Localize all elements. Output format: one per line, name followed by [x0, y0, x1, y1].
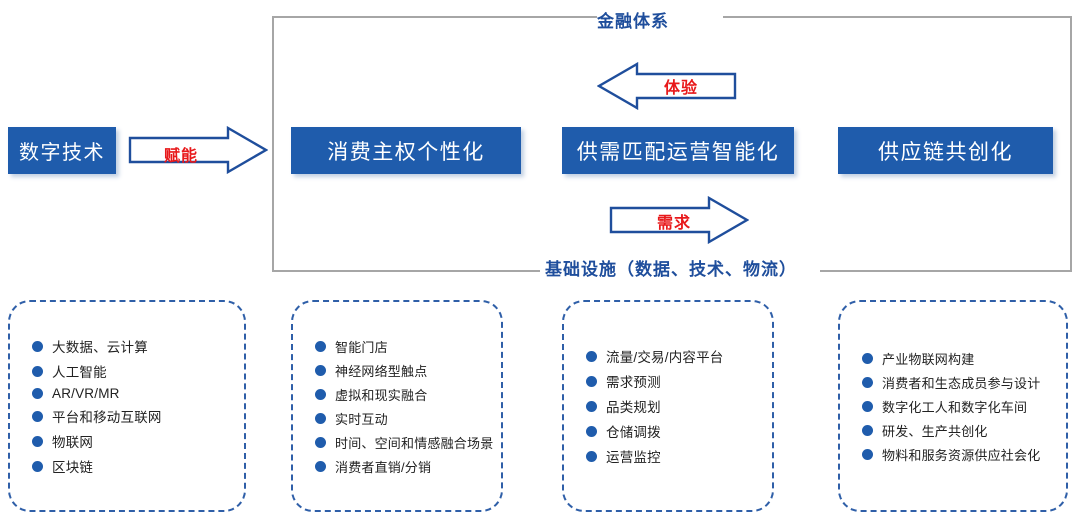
- list-item: 流量/交易/内容平台: [586, 346, 772, 366]
- list-item-label: 物料和服务资源供应社会化: [882, 445, 1040, 464]
- bullet-dot-icon: [315, 341, 326, 352]
- bullet-dot-icon: [586, 401, 597, 412]
- bullet-dot-icon: [862, 353, 873, 364]
- card-supply-demand-items: 流量/交易/内容平台 需求预测 品类规划 仓储调拨 运营监控: [562, 300, 774, 512]
- list-item-label: 时间、空间和情感融合场景: [335, 433, 493, 452]
- bullet-dot-icon: [586, 351, 597, 362]
- list-item-label: 消费者和生态成员参与设计: [882, 373, 1040, 392]
- list-item-label: 流量/交易/内容平台: [606, 346, 724, 366]
- list-item: 智能门店: [315, 337, 501, 356]
- arrow-demand-label: 需求: [657, 209, 691, 233]
- list-item-label: 虚拟和现实融合: [335, 385, 427, 404]
- box-supply-chain-cocreation[interactable]: 供应链共创化: [838, 127, 1053, 174]
- bullet-dot-icon: [586, 376, 597, 387]
- bullet-dot-icon: [862, 425, 873, 436]
- list-item-label: 品类规划: [606, 396, 661, 416]
- list-item: 需求预测: [586, 371, 772, 391]
- list-item: 运营监控: [586, 446, 772, 466]
- list-item: 大数据、云计算: [32, 336, 244, 356]
- bullet-dot-icon: [586, 426, 597, 437]
- list-item-label: 物联网: [52, 431, 93, 451]
- bullet-list: 产业物联网构建 消费者和生态成员参与设计 数字化工人和数字化车间 研发、生产共创…: [840, 344, 1066, 469]
- bullet-dot-icon: [862, 449, 873, 460]
- list-item: 仓储调拨: [586, 421, 772, 441]
- list-item-label: 消费者直销/分销: [335, 457, 431, 476]
- bullet-dot-icon: [315, 365, 326, 376]
- list-item: 消费者直销/分销: [315, 457, 501, 476]
- list-item-label: 神经网络型触点: [335, 361, 427, 380]
- financial-system-label: 金融体系: [597, 7, 669, 32]
- list-item-label: 智能门店: [335, 337, 388, 356]
- list-item: 人工智能: [32, 361, 244, 381]
- box-supply-demand-matching[interactable]: 供需匹配运营智能化: [562, 127, 794, 174]
- list-item: 研发、生产共创化: [862, 421, 1066, 440]
- card-consumer-sovereignty-items: 智能门店 神经网络型触点 虚拟和现实融合 实时互动 时间、空间和情感融合场景 消…: [291, 300, 503, 512]
- bullet-dot-icon: [862, 401, 873, 412]
- bullet-dot-icon: [32, 341, 43, 352]
- bullet-list: 流量/交易/内容平台 需求预测 品类规划 仓储调拨 运营监控: [564, 341, 772, 471]
- bullet-list: 智能门店 神经网络型触点 虚拟和现实融合 实时互动 时间、空间和情感融合场景 消…: [293, 332, 501, 481]
- box-digital-technology[interactable]: 数字技术: [8, 127, 116, 174]
- list-item: 平台和移动互联网: [32, 406, 244, 426]
- bullet-dot-icon: [315, 461, 326, 472]
- box-consumer-sovereignty[interactable]: 消费主权个性化: [291, 127, 521, 174]
- list-item-label: 研发、生产共创化: [882, 421, 988, 440]
- list-item-label: 仓储调拨: [606, 421, 661, 441]
- bullet-dot-icon: [32, 388, 43, 399]
- list-item: 消费者和生态成员参与设计: [862, 373, 1066, 392]
- list-item: 物联网: [32, 431, 244, 451]
- card-digital-technology-items: 大数据、云计算 人工智能 AR/VR/MR 平台和移动互联网 物联网 区块链: [8, 300, 246, 512]
- bullet-dot-icon: [32, 436, 43, 447]
- list-item: 神经网络型触点: [315, 361, 501, 380]
- list-item-label: 平台和移动互联网: [52, 406, 162, 426]
- bullet-list: 大数据、云计算 人工智能 AR/VR/MR 平台和移动互联网 物联网 区块链: [10, 331, 244, 481]
- list-item: 虚拟和现实融合: [315, 385, 501, 404]
- bullet-dot-icon: [862, 377, 873, 388]
- list-item: AR/VR/MR: [32, 386, 244, 401]
- bullet-dot-icon: [32, 366, 43, 377]
- diagram-canvas: 金融体系 基础设施（数据、技术、物流） 数字技术 消费主权个性化 供需匹配运营智…: [0, 0, 1080, 519]
- bullet-dot-icon: [32, 411, 43, 422]
- list-item-label: 大数据、云计算: [52, 336, 148, 356]
- list-item-label: 实时互动: [335, 409, 388, 428]
- bullet-dot-icon: [586, 451, 597, 462]
- list-item-label: 区块链: [52, 456, 93, 476]
- list-item: 数字化工人和数字化车间: [862, 397, 1066, 416]
- list-item-label: 数字化工人和数字化车间: [882, 397, 1027, 416]
- list-item-label: 需求预测: [606, 371, 661, 391]
- bullet-dot-icon: [32, 461, 43, 472]
- list-item-label: 人工智能: [52, 361, 107, 381]
- list-item-label: AR/VR/MR: [52, 386, 120, 401]
- list-item: 物料和服务资源供应社会化: [862, 445, 1066, 464]
- list-item: 时间、空间和情感融合场景: [315, 433, 501, 452]
- list-item: 产业物联网构建: [862, 349, 1066, 368]
- list-item: 区块链: [32, 456, 244, 476]
- list-item: 品类规划: [586, 396, 772, 416]
- arrow-enable-label: 赋能: [164, 142, 198, 166]
- bullet-dot-icon: [315, 389, 326, 400]
- list-item: 实时互动: [315, 409, 501, 428]
- list-item-label: 产业物联网构建: [882, 349, 974, 368]
- list-item-label: 运营监控: [606, 446, 661, 466]
- bullet-dot-icon: [315, 437, 326, 448]
- bullet-dot-icon: [315, 413, 326, 424]
- card-supply-chain-items: 产业物联网构建 消费者和生态成员参与设计 数字化工人和数字化车间 研发、生产共创…: [838, 300, 1068, 512]
- infrastructure-label: 基础设施（数据、技术、物流）: [545, 255, 797, 280]
- arrow-experience-label: 体验: [664, 74, 698, 98]
